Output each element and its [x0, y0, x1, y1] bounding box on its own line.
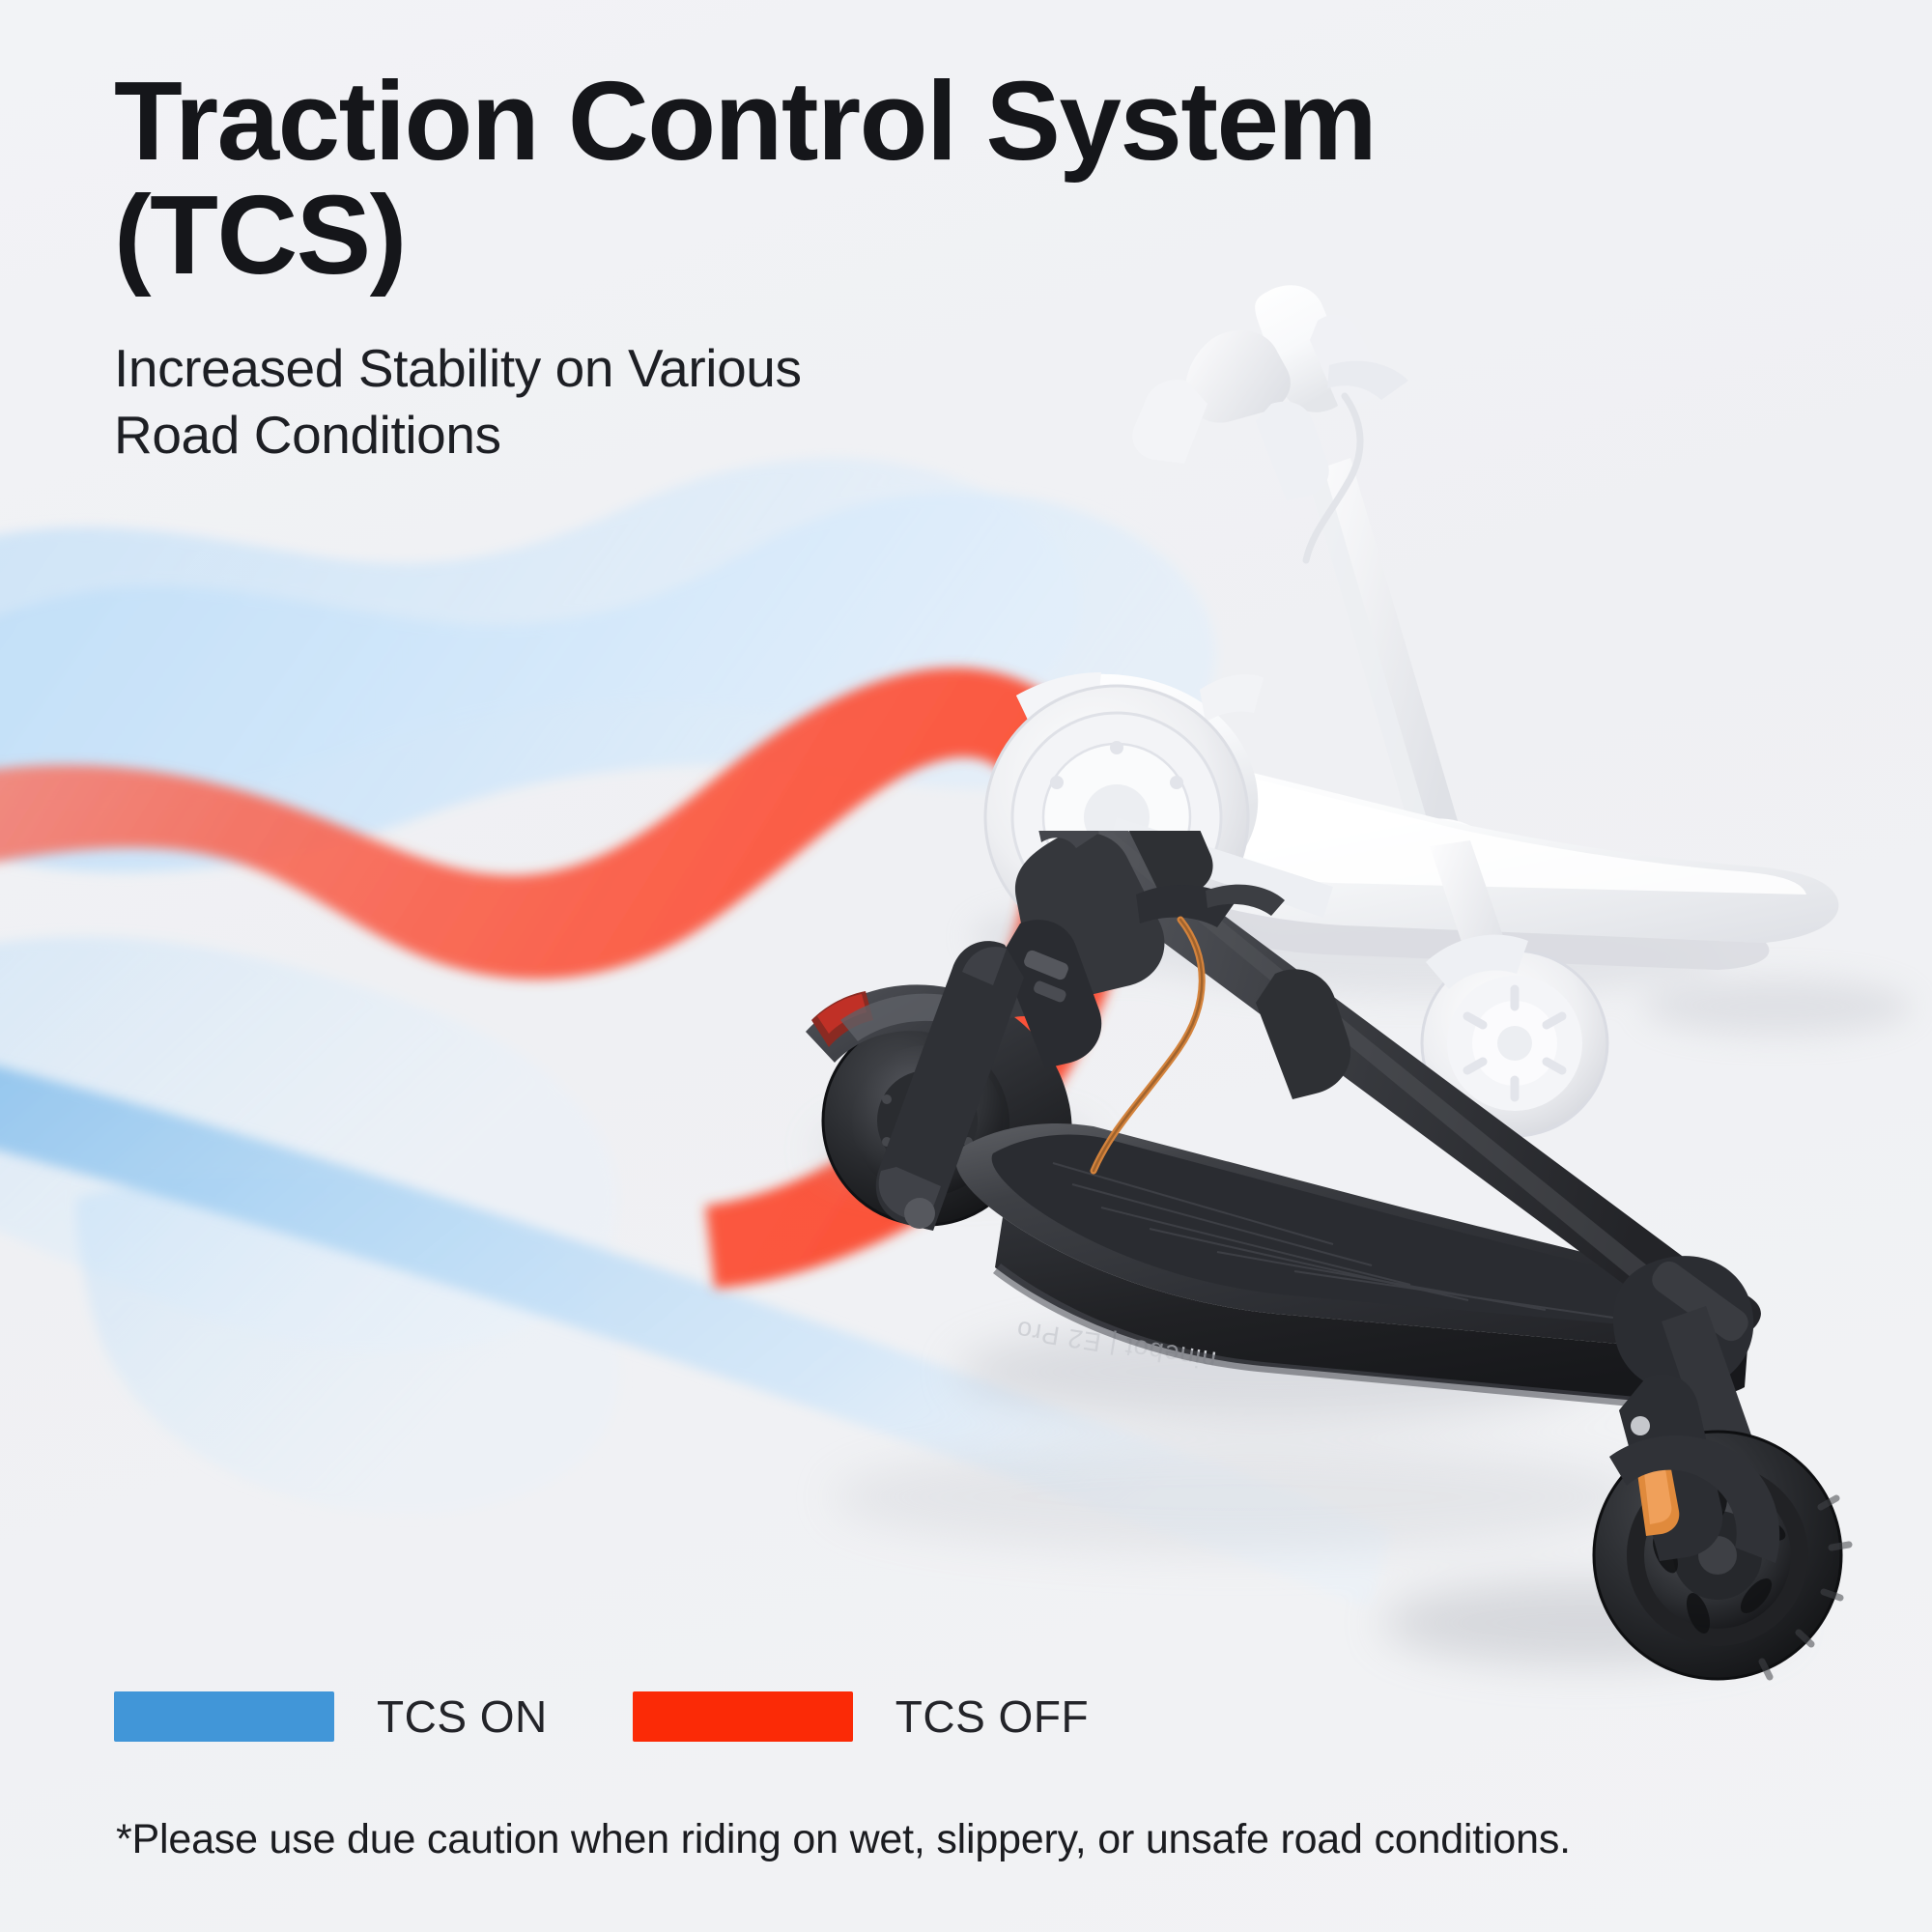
tcs-off-swatch: [633, 1691, 853, 1742]
footnote: *Please use due caution when riding on w…: [116, 1816, 1571, 1863]
black-scooter-handlebar: [876, 831, 1285, 1231]
black-scooter-shadow: [821, 1117, 1787, 1665]
black-scooter-stem: [1080, 831, 1753, 1391]
white-scooter-shadow: [971, 904, 1913, 1036]
marketing-slide: ninebot | E2 Pro: [0, 0, 1932, 1932]
white-scooter-front-wheel: [1422, 840, 1607, 1136]
blue-path-band: [0, 1037, 1391, 1607]
legend-item-tcs-off: TCS OFF: [633, 1690, 1089, 1743]
deck-branding: ninebot | E2 Pro: [1014, 1315, 1218, 1375]
white-scooter-deck: [1016, 672, 1838, 970]
white-scooter-rear-wheel: [985, 686, 1333, 949]
red-path-ribbon: [0, 668, 1130, 1289]
legend-label-tcs-on: TCS ON: [377, 1690, 548, 1743]
blue-path-upper: [0, 458, 1216, 872]
black-scooter-rear-wheel: [806, 984, 1072, 1225]
legend-label-tcs-off: TCS OFF: [895, 1690, 1089, 1743]
black-scooter-front-wheel: [1594, 1306, 1849, 1679]
legend-item-tcs-on: TCS ON: [114, 1690, 548, 1743]
black-scooter-deck: ninebot | E2 Pro: [955, 1123, 1761, 1408]
page-title: Traction Control System (TCS): [114, 64, 1756, 293]
white-scooter-stem: [1306, 458, 1496, 920]
blue-path-lower-lobe: [0, 937, 620, 1515]
tcs-on-swatch: [114, 1691, 334, 1742]
headline-block: Traction Control System (TCS) Increased …: [114, 64, 1756, 469]
svg-text:ninebot | E2 Pro: ninebot | E2 Pro: [1014, 1315, 1218, 1375]
legend: TCS ON TCS OFF: [114, 1690, 1089, 1743]
page-subtitle: Increased Stability on Various Road Cond…: [114, 335, 1756, 469]
